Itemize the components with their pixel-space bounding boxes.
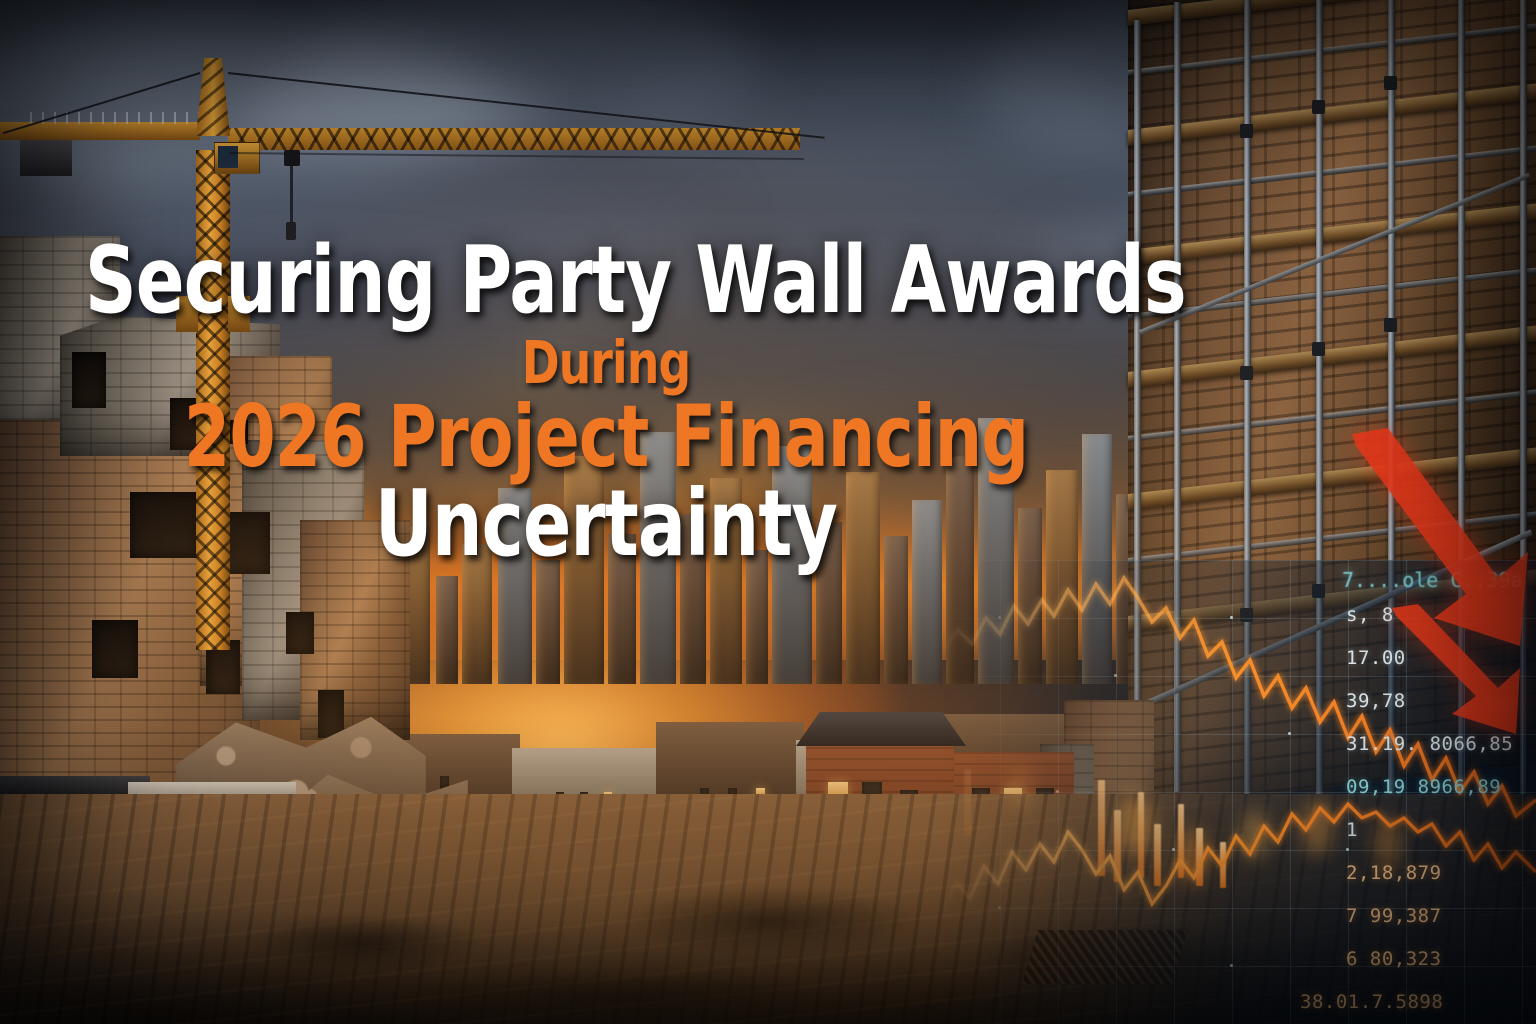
crane-jib: [228, 128, 800, 150]
ruin-wall-far2: [300, 520, 410, 740]
window-opening: [92, 620, 138, 678]
financial-value: 7 99,387: [1346, 907, 1536, 926]
door-opening: [318, 690, 344, 738]
crane-cab-window: [218, 146, 238, 168]
financial-value: 2,18,879: [1346, 864, 1536, 883]
down-arrow-small-icon: [1386, 604, 1536, 744]
crane-mast: [196, 150, 230, 650]
window-opening: [286, 612, 314, 654]
financial-value: 38.01.7.5898: [1300, 993, 1536, 1012]
hero-banner: 7....ole C.,39a s, 8 17.00 39,78 31.19. …: [0, 0, 1536, 1024]
window-opening: [230, 420, 248, 444]
crane-counterweight: [20, 140, 72, 176]
financial-value: 1: [1346, 821, 1536, 840]
window-opening: [72, 352, 106, 408]
crane-platform: [176, 296, 198, 332]
crane-trolley: [284, 150, 300, 166]
window-opening: [130, 492, 200, 558]
crane-platform: [228, 296, 250, 332]
house-roof: [796, 712, 966, 746]
financial-value: 09,19 8966,89: [1346, 778, 1536, 797]
crane-hook-block: [286, 222, 296, 240]
financial-value: 6 80,323: [1346, 950, 1536, 969]
